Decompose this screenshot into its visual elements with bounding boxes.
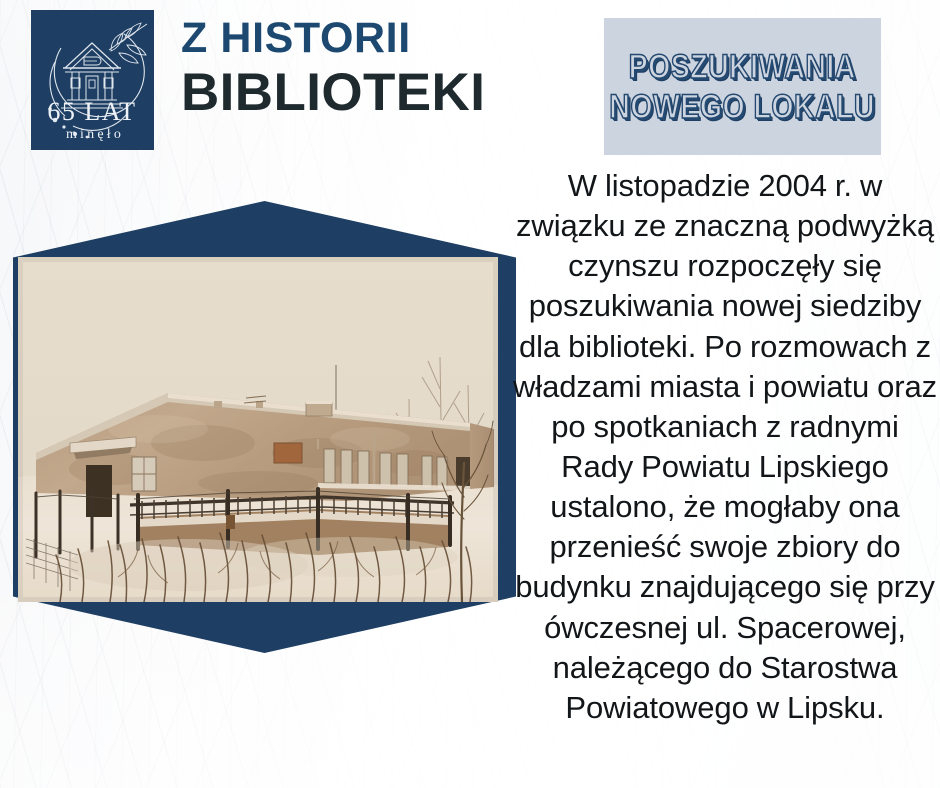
headline-banner: POSZUKIWANIA NOWEGO LOKALU [604,18,881,155]
page-title: BIBLIOTEKI [181,65,561,121]
article-paragraph: W listopadzie 2004 r. w związku ze znacz… [513,166,937,728]
headline-line-2: NOWEGO LOKALU [610,90,876,124]
svg-text:65 LAT: 65 LAT [47,97,136,126]
masthead: Z HISTORII BIBLIOTEKI [181,16,561,121]
historic-photo [18,257,498,602]
headline-line-1: POSZUKIWANIA [629,50,856,84]
svg-text:minęło: minęło [66,127,124,142]
poster-canvas: 65 LAT minęło Z HISTORII BIBLIOTEKI POSZ… [0,0,940,788]
anniversary-logo-badge: 65 LAT minęło [31,10,154,150]
library-building-anniversary-logo-icon: 65 LAT minęło [31,10,154,150]
masthead-line-1: Z HISTORII [181,16,561,61]
snowy-building-photo-illustration [18,257,498,602]
